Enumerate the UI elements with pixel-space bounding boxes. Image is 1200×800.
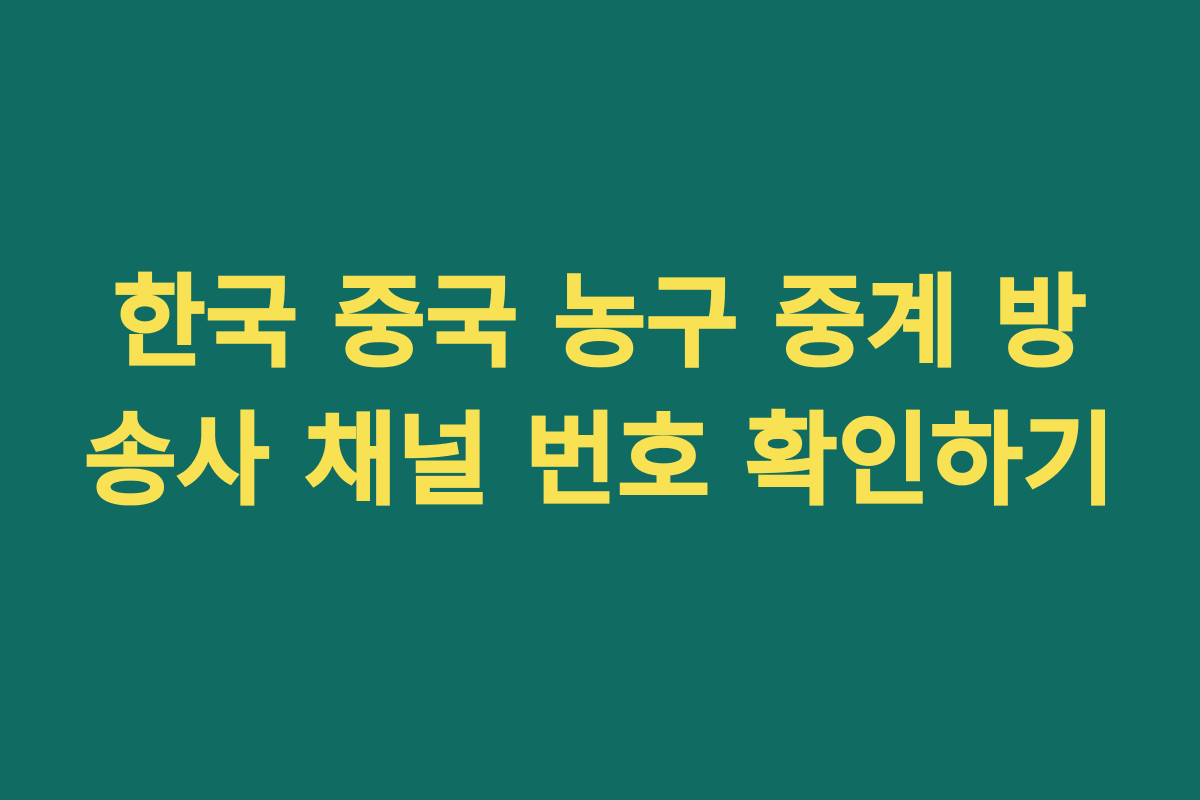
title-block: 한국 중국 농구 중계 방 송사 채널 번호 확인하기	[80, 254, 1120, 530]
title-card: 한국 중국 농구 중계 방 송사 채널 번호 확인하기	[0, 0, 1200, 800]
title-line-2: 송사 채널 번호 확인하기	[80, 392, 1120, 530]
title-line-1: 한국 중국 농구 중계 방	[80, 254, 1120, 392]
